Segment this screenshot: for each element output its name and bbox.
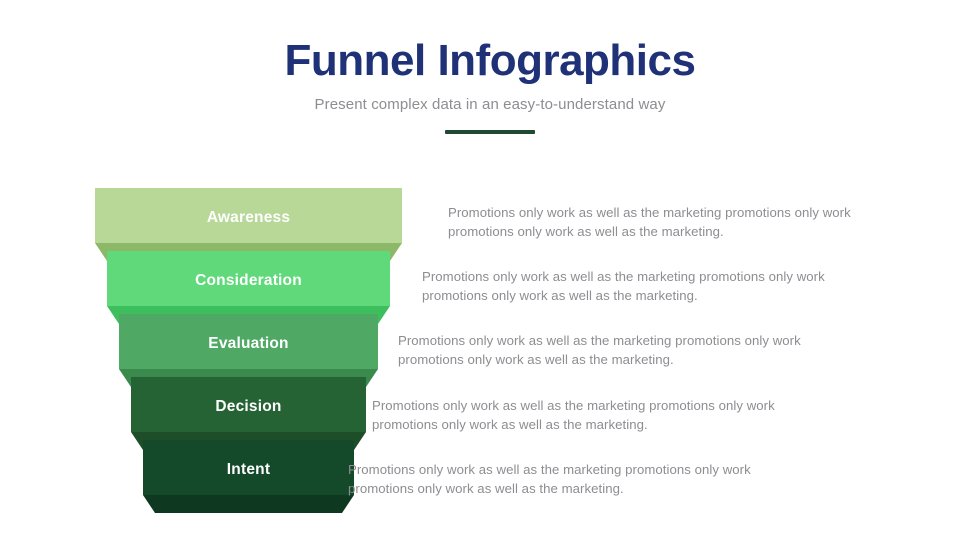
slide-canvas: Funnel Infographics Present complex data… <box>0 0 980 551</box>
funnel-description-consideration: Promotions only work as well as the mark… <box>422 268 862 305</box>
funnel-stage-body <box>107 251 390 306</box>
funnel-stage-decision[interactable] <box>131 377 366 450</box>
funnel-description-intent: Promotions only work as well as the mark… <box>348 461 788 498</box>
funnel-stage-awareness[interactable] <box>95 188 402 261</box>
funnel-description-decision: Promotions only work as well as the mark… <box>372 397 812 434</box>
funnel-stage-body <box>131 377 366 432</box>
funnel-stage-evaluation[interactable] <box>119 314 378 387</box>
funnel-description-awareness: Promotions only work as well as the mark… <box>448 204 888 241</box>
funnel-stage-body <box>143 440 354 495</box>
funnel-stage-body <box>119 314 378 369</box>
funnel-stage-intent[interactable] <box>143 440 354 513</box>
funnel-stage-body <box>95 188 402 243</box>
header: Funnel Infographics Present complex data… <box>0 38 980 134</box>
page-subtitle: Present complex data in an easy-to-under… <box>0 96 980 113</box>
page-title: Funnel Infographics <box>0 38 980 84</box>
funnel-stage-shadow <box>143 495 354 513</box>
funnel-stage-consideration[interactable] <box>107 251 390 324</box>
title-divider <box>445 130 535 134</box>
funnel-description-evaluation: Promotions only work as well as the mark… <box>398 332 838 369</box>
